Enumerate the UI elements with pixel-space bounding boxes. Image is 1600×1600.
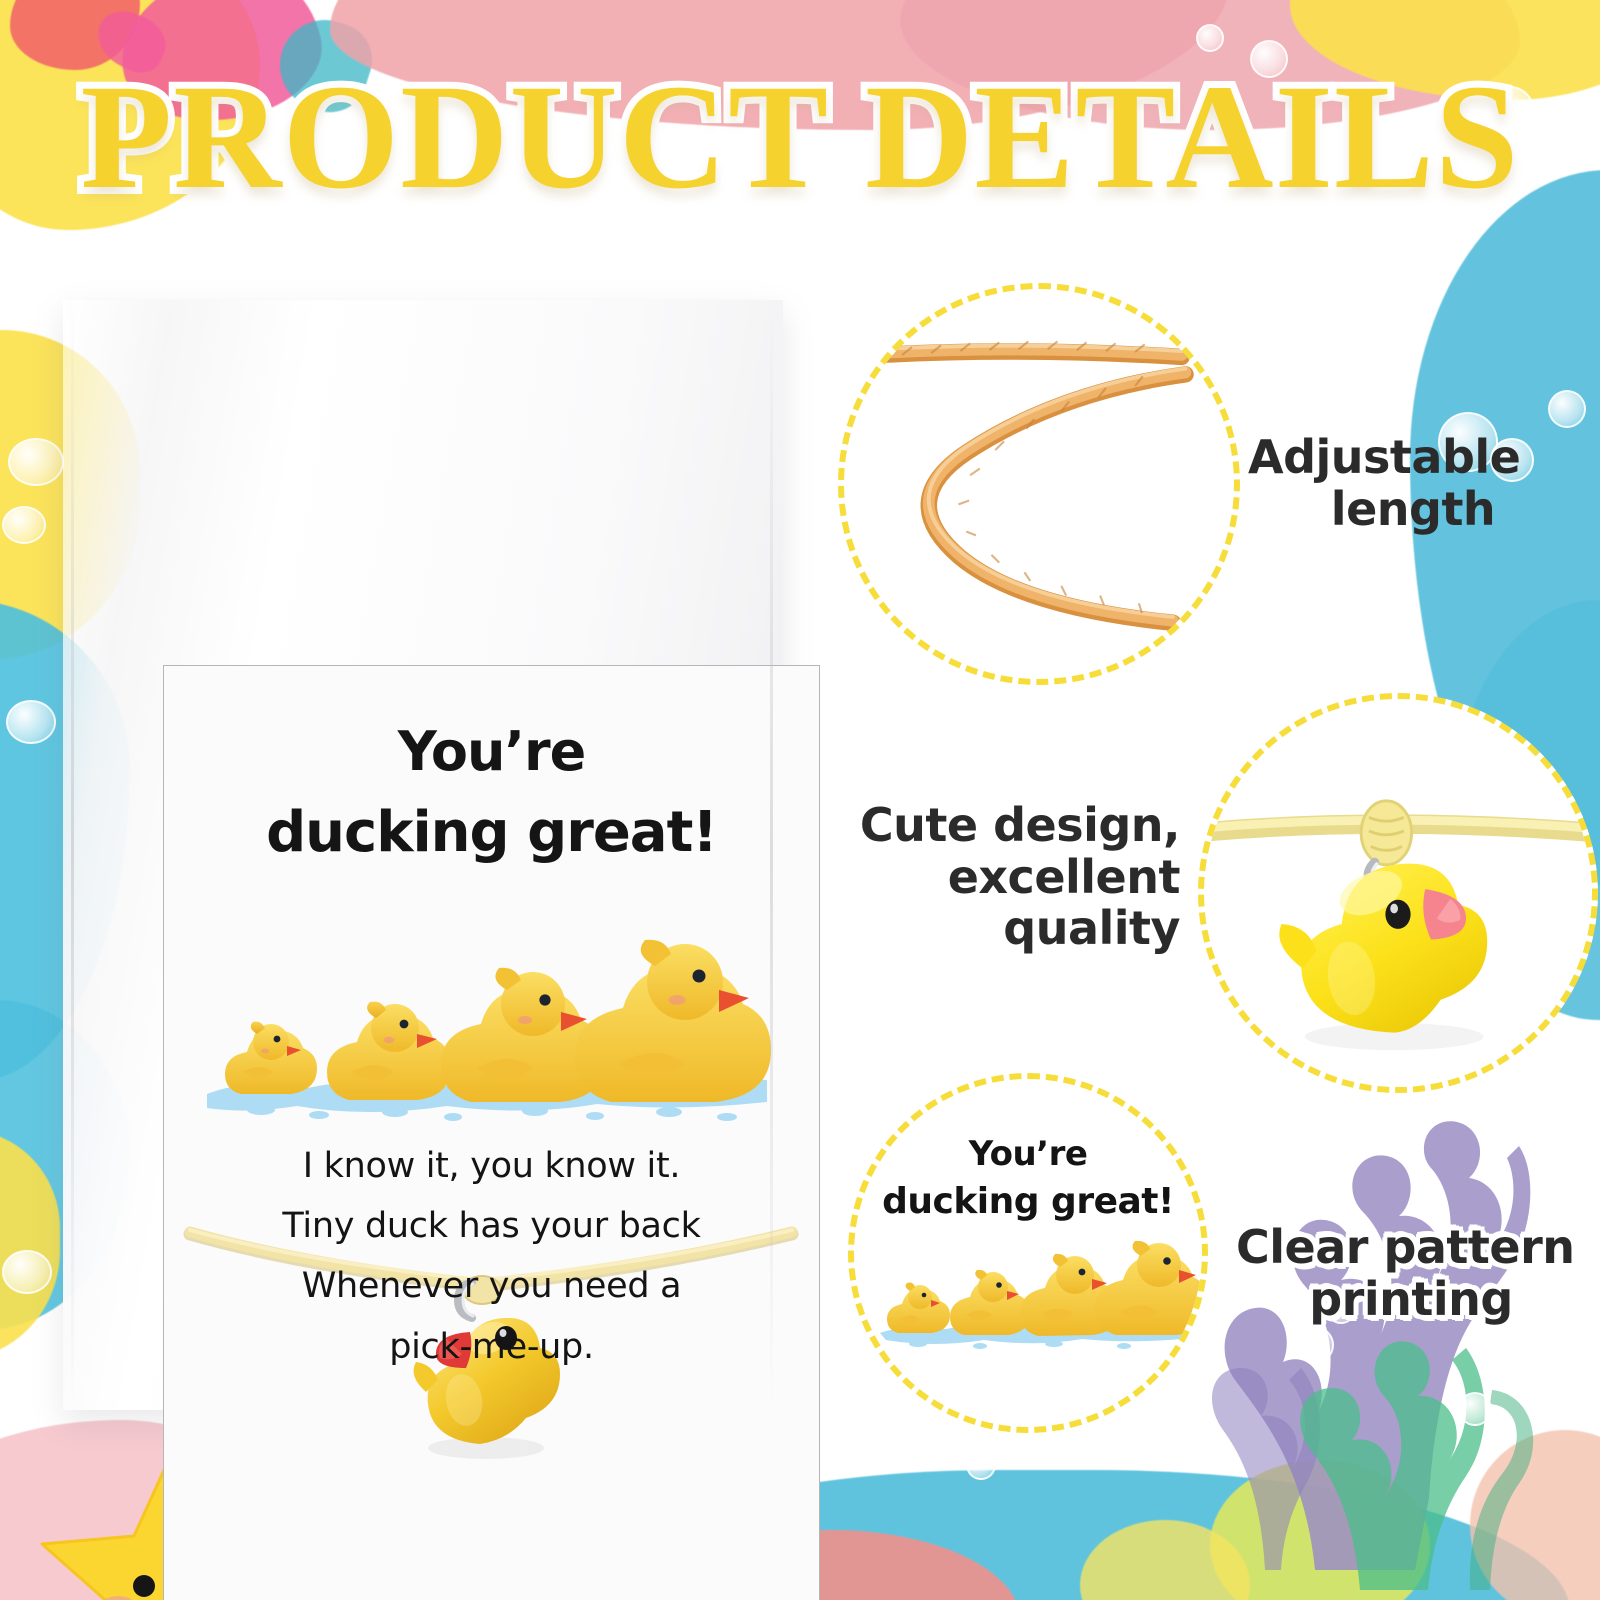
feature-circle-adjustable-length bbox=[838, 283, 1240, 685]
duck-charm-on-cord-photo bbox=[1204, 699, 1592, 1087]
circle-inset-line1: You’re bbox=[854, 1137, 1202, 1173]
card-body-line4: pick-me-up. bbox=[198, 1317, 785, 1377]
feature-label-line2: length bbox=[1248, 484, 1578, 536]
feature-circle-clear-pattern-printing: You’re ducking great! bbox=[848, 1073, 1208, 1433]
feature-circle-cute-design bbox=[1198, 693, 1598, 1093]
duck-4 bbox=[575, 940, 771, 1102]
bubble-icon bbox=[1458, 1392, 1492, 1426]
bubble-icon bbox=[1296, 1326, 1334, 1364]
duck-1 bbox=[887, 1283, 950, 1334]
card-body-line3: Whenever you need a bbox=[198, 1256, 785, 1316]
card-body-line2: Tiny duck has your back bbox=[198, 1196, 785, 1256]
greeting-card: You’re ducking great! bbox=[163, 665, 820, 1600]
card-body-text: I know it, you know it. Tiny duck has yo… bbox=[198, 1136, 785, 1377]
duck-family-illustration-inset bbox=[876, 1229, 1196, 1351]
duck-2 bbox=[950, 1270, 1030, 1335]
feature-label-line2: excellent quality bbox=[820, 852, 1180, 955]
card-headline-line1: You’re bbox=[164, 724, 819, 779]
feature-label-line2: printing bbox=[1236, 1274, 1586, 1326]
bubble-icon bbox=[8, 438, 64, 486]
bubble-icon bbox=[2, 506, 46, 544]
duck-2 bbox=[327, 1002, 451, 1100]
watercolor-yellow-left-lower bbox=[0, 1130, 60, 1360]
bubble-icon bbox=[966, 1450, 996, 1480]
bubble-icon bbox=[1548, 390, 1586, 428]
braided-cord-photo bbox=[844, 289, 1234, 679]
duck-family-illustration bbox=[199, 922, 784, 1122]
bubble-icon bbox=[2, 1250, 52, 1294]
duck-4 bbox=[1095, 1241, 1208, 1335]
feature-label-line1: Clear pattern bbox=[1236, 1222, 1586, 1274]
feature-label-adjustable-length: Adjustable length bbox=[1248, 432, 1578, 535]
feature-label-clear-pattern-printing: Clear pattern printing bbox=[1236, 1222, 1586, 1325]
feature-label-cute-design: Cute design, excellent quality bbox=[820, 800, 1180, 955]
card-headline-line2: ducking great! bbox=[164, 804, 819, 861]
product-package-bag: You’re ducking great! bbox=[63, 300, 783, 1410]
card-body-line1: I know it, you know it. bbox=[198, 1136, 785, 1196]
bubble-icon bbox=[1196, 24, 1224, 52]
page-title: PRODUCT DETAILS bbox=[0, 62, 1600, 212]
feature-label-line1: Adjustable bbox=[1248, 432, 1578, 484]
circle-inset-line2: ducking great! bbox=[854, 1183, 1202, 1221]
infographic-canvas: PRODUCT DETAILS You’re ducking great! bbox=[0, 0, 1600, 1600]
duck-1 bbox=[225, 1022, 317, 1094]
bubble-icon bbox=[6, 700, 56, 744]
feature-label-line1: Cute design, bbox=[820, 800, 1180, 852]
